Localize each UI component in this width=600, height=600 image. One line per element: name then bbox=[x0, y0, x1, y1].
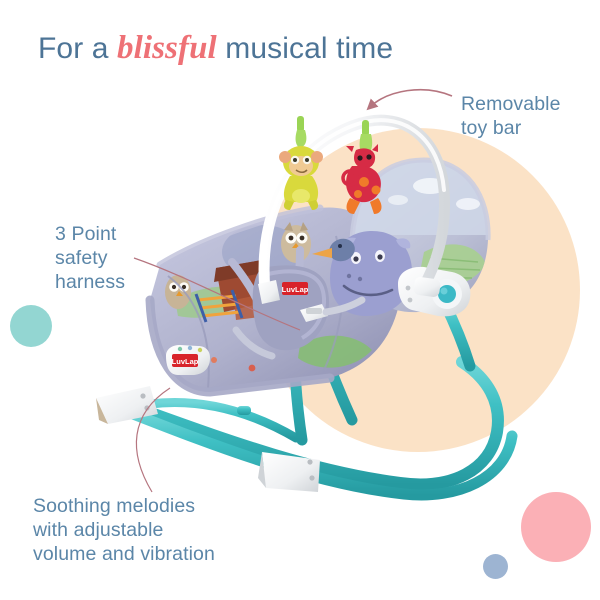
callout-melodies-line-2: with adjustable bbox=[33, 518, 298, 542]
callout-toy-bar-line-1: Removable bbox=[461, 92, 596, 116]
svg-text:LuvLap: LuvLap bbox=[172, 357, 199, 366]
headline-accent: blissful bbox=[117, 30, 217, 66]
control-indicator-green bbox=[178, 347, 182, 351]
infographic-canvas: LuvLap LuvLap bbox=[0, 0, 600, 600]
callout-harness-line-2: safety bbox=[55, 246, 185, 270]
callout-soothing-melodies: Soothing melodies with adjustable volume… bbox=[33, 494, 298, 566]
recline-button bbox=[438, 285, 456, 303]
vibration-control-box[interactable]: LuvLap bbox=[166, 345, 210, 375]
callout-melodies-line-3: volume and vibration bbox=[33, 542, 298, 566]
svg-text:LuvLap: LuvLap bbox=[282, 285, 309, 294]
page-title: For a blissful musical time bbox=[38, 28, 393, 69]
control-indicator-blue bbox=[188, 346, 192, 350]
headline-part-1: For a bbox=[38, 32, 117, 65]
callout-melodies-line-1: Soothing melodies bbox=[33, 494, 298, 518]
control-indicator-yellow bbox=[198, 348, 202, 352]
callout-removable-toy-bar: Removable toy bar bbox=[461, 92, 596, 140]
dinosaur-toy[interactable] bbox=[343, 120, 381, 214]
callout-three-point-harness: 3 Point safety harness bbox=[55, 222, 185, 294]
callout-harness-line-3: harness bbox=[55, 270, 185, 294]
base-foot-right bbox=[258, 452, 320, 492]
callout-toy-bar-line-2: toy bar bbox=[461, 116, 596, 140]
callout-harness-line-1: 3 Point bbox=[55, 222, 185, 246]
headline-part-2: musical time bbox=[217, 32, 393, 65]
monkey-toy[interactable] bbox=[279, 116, 323, 210]
